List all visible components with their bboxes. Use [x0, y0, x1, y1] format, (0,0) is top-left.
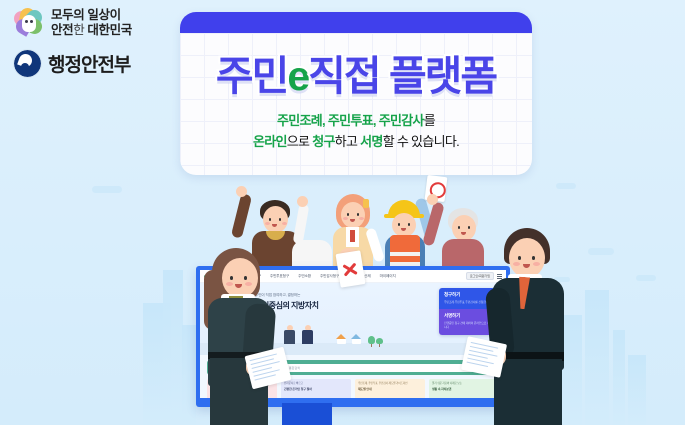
- ballot-card-x-icon: [335, 250, 365, 287]
- cloud-icon-4: [636, 275, 656, 281]
- tile-title-2: 제도별 안내: [358, 387, 422, 391]
- safety-korea-emblem-icon: [14, 8, 44, 38]
- house-icon: [337, 339, 346, 344]
- ministry-name: 행정안전부: [48, 50, 130, 77]
- ministry-logo: 행정안전부: [14, 50, 174, 77]
- cloud-icon-3: [588, 248, 614, 255]
- tile-title-1: 간편한 온라인 청구 절차: [284, 387, 348, 391]
- tile-sub-2: 주민조례, 주민투표, 주민감사 제도별 가이드라인: [358, 382, 422, 386]
- page-subtitle: 주민조례, 주민투표, 주민감사를 온라인으로 청구하고 서명할 수 있습니다.: [253, 111, 459, 151]
- building-silhouette: [182, 325, 196, 425]
- building-silhouette: [613, 330, 625, 425]
- page-title: 주민e직접 플랫폼: [216, 56, 496, 97]
- cloud-icon-2: [556, 183, 576, 189]
- tree-icon: [376, 338, 383, 344]
- building-silhouette: [163, 270, 183, 425]
- official-man-with-documents: [478, 228, 583, 425]
- safety-korea-tagline: 모두의 일상이 안전한 대한민국: [51, 8, 132, 39]
- building-silhouette: [628, 355, 646, 425]
- tile-sub-1: 전자문서로 빠르고: [284, 382, 348, 386]
- scene-figure-main: [302, 325, 313, 345]
- official-woman-with-documents: [196, 248, 291, 425]
- info-tile-1[interactable]: 전자문서로 빠르고 간편한 온라인 청구 절차: [281, 379, 351, 398]
- taeguk-emblem-icon: [14, 50, 41, 77]
- nav-item-2[interactable]: 주민소환: [298, 274, 311, 279]
- poster-stage: 모두의 일상이 안전한 대한민국 행정안전부 주민e직접 플랫폼 주민조례, 주…: [0, 0, 685, 425]
- building-silhouette: [585, 290, 609, 425]
- nav-item-3[interactable]: 주민감사청구: [320, 274, 339, 279]
- nav-item-5[interactable]: 마이페이지: [380, 274, 396, 279]
- cloud-icon-1: [92, 186, 122, 193]
- title-card: 주민e직접 플랫폼 주민조례, 주민투표, 주민감사를 온라인으로 청구하고 서…: [180, 12, 532, 175]
- card-top-bar: [180, 12, 532, 33]
- house-icon: [352, 339, 361, 344]
- header-logos: 모두의 일상이 안전한 대한민국 행정안전부: [14, 8, 174, 77]
- safety-korea-logo: 모두의 일상이 안전한 대한민국: [14, 8, 174, 39]
- tree-icon: [368, 336, 375, 344]
- info-tile-2[interactable]: 주민조례, 주민투표, 주민감사 제도별 가이드라인 제도별 안내: [355, 379, 425, 398]
